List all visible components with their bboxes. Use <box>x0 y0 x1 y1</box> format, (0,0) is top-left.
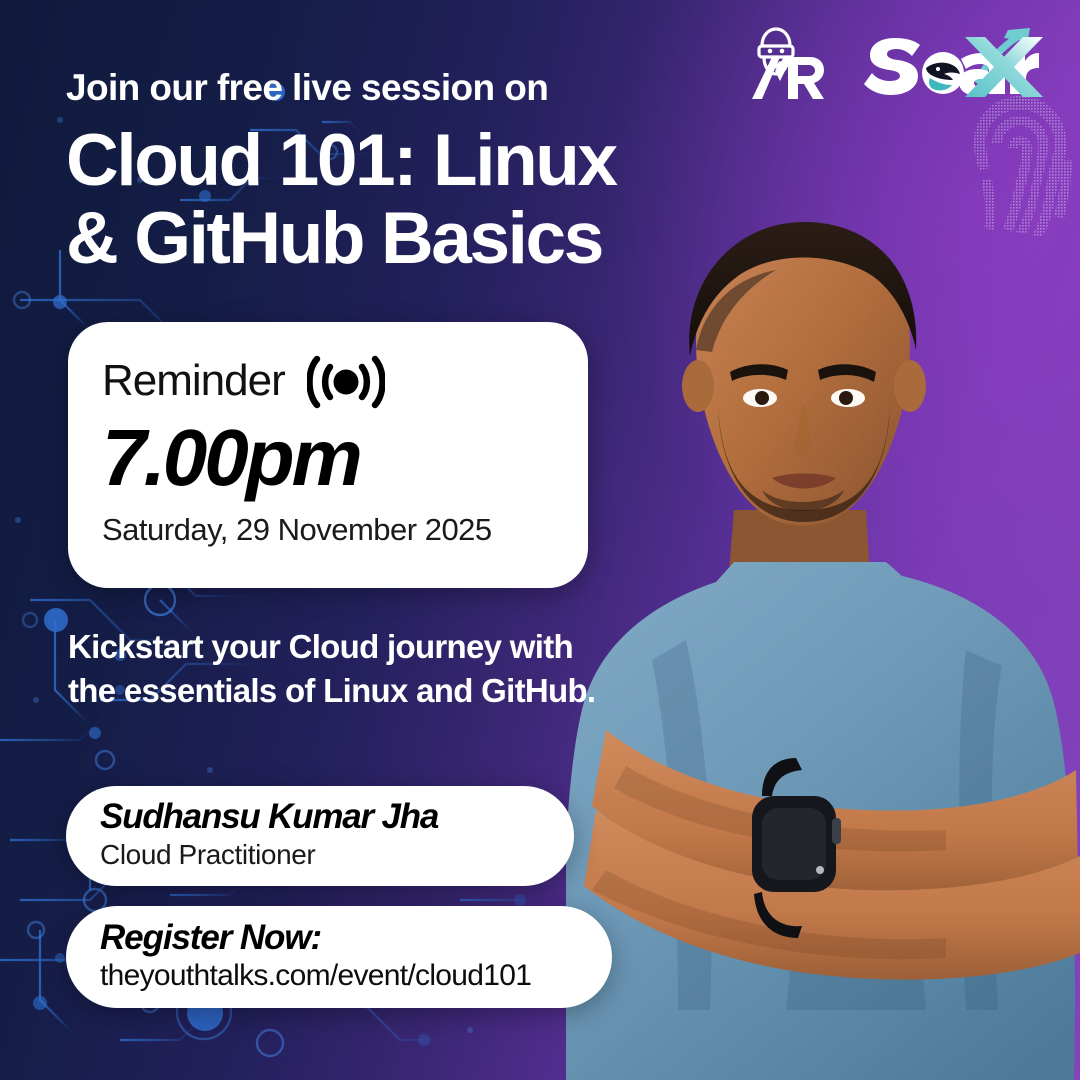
logo-row <box>740 22 1046 106</box>
presenter-photo-arms-crossed <box>566 210 1080 1080</box>
register-card[interactable]: Register Now: theyouthtalks.com/event/cl… <box>66 906 612 1008</box>
event-date: Saturday, 29 November 2025 <box>102 512 554 548</box>
page-title: Cloud 101: Linux & GitHub Basics <box>66 122 746 278</box>
soarx-logo[interactable] <box>860 22 1046 106</box>
reminder-label: Reminder <box>102 356 285 406</box>
fingerprint-dot-pattern <box>962 90 1078 240</box>
subheadline-text: Kickstart your Cloud journey with the es… <box>68 625 598 712</box>
live-broadcast-icon <box>307 352 385 412</box>
title-line-2: & GitHub Basics <box>66 200 746 278</box>
speaker-card: Sudhansu Kumar Jha Cloud Practitioner <box>66 786 574 886</box>
register-title: Register Now: <box>100 917 612 958</box>
poster-canvas: Join our free live session on Cloud 101:… <box>0 0 1080 1080</box>
speaker-role: Cloud Practitioner <box>100 839 574 871</box>
headline-block: Join our free live session on Cloud 101:… <box>66 68 746 278</box>
speaker-name: Sudhansu Kumar Jha <box>100 797 574 837</box>
ar-logo[interactable] <box>740 23 826 105</box>
register-url[interactable]: theyouthtalks.com/event/cloud101 <box>100 959 612 993</box>
reminder-card: Reminder 7.00pm Saturday, 29 November 20… <box>68 322 588 588</box>
eyebrow-text: Join our free live session on <box>66 68 746 109</box>
reminder-header: Reminder <box>102 350 554 412</box>
event-time: 7.00pm <box>102 414 554 502</box>
title-line-1: Cloud 101: Linux <box>66 120 616 201</box>
